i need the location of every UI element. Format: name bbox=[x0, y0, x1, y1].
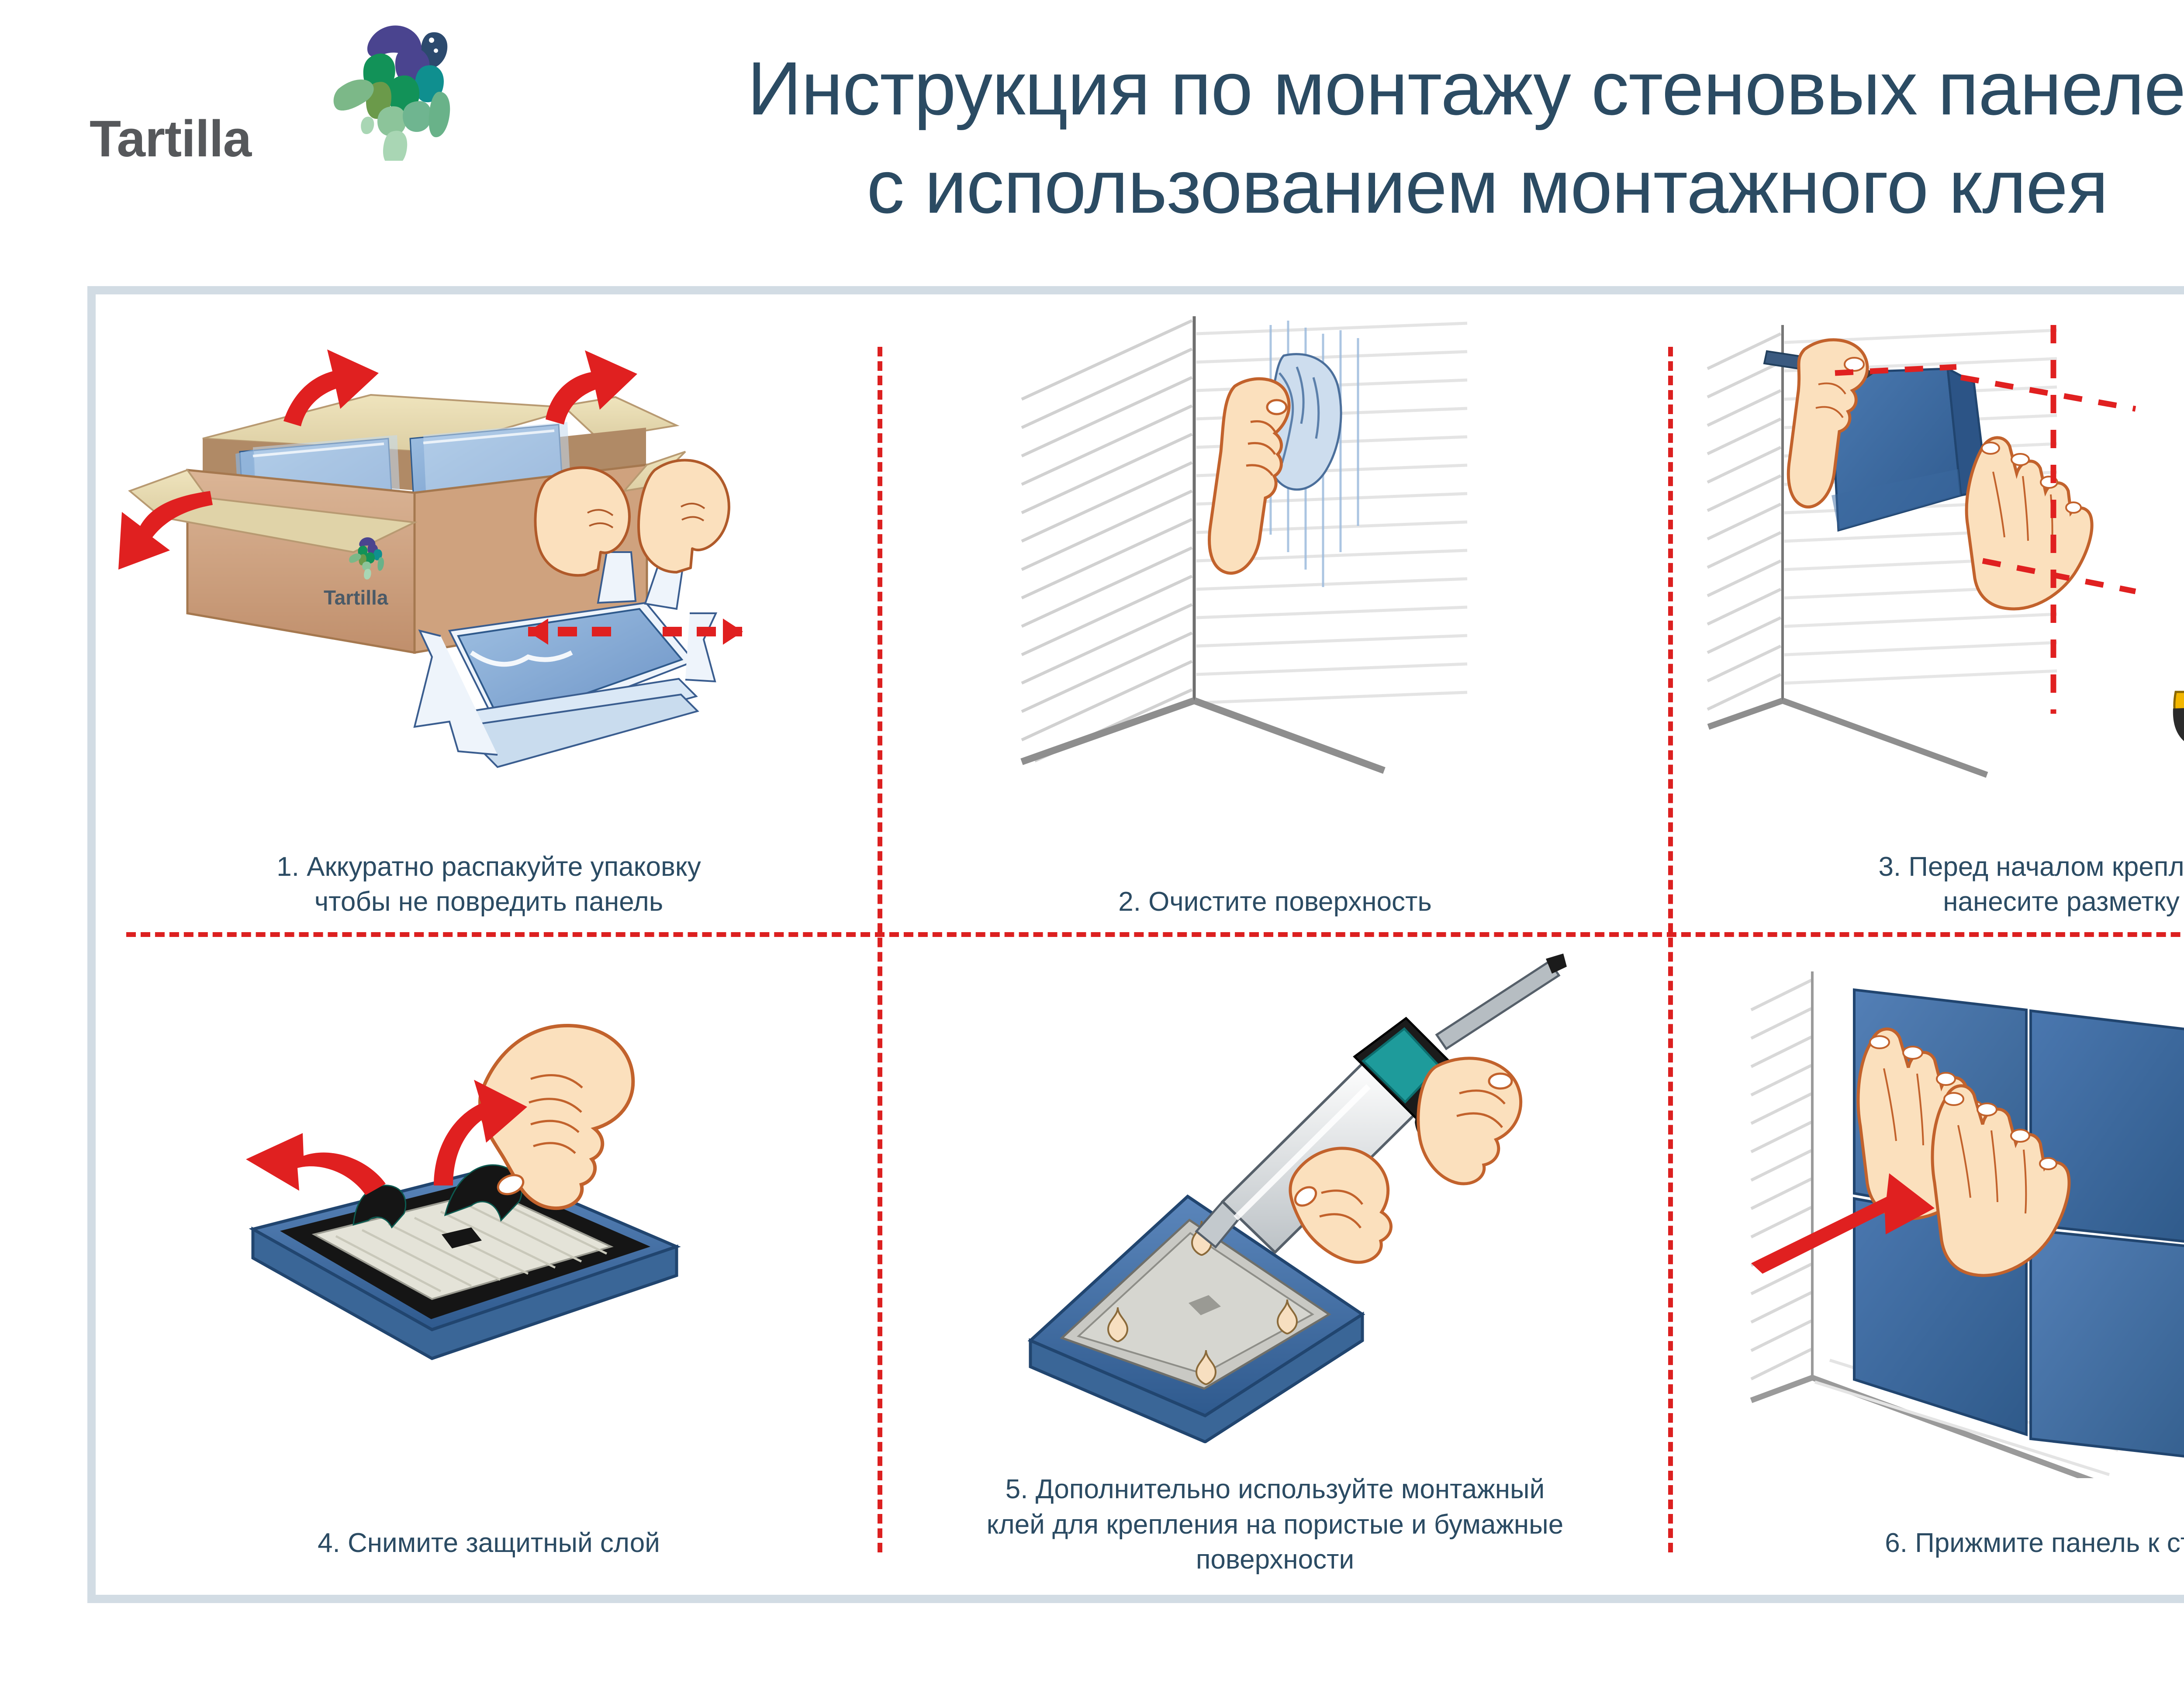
divider-vertical-2 bbox=[1668, 347, 1673, 1552]
mark-layout-illustration bbox=[1681, 308, 2184, 819]
title-line-2: с использованием монтажного клея bbox=[515, 138, 2184, 236]
step-caption-1: 1. Аккуратно распакуйте упаковку чтобы н… bbox=[109, 850, 869, 920]
step-card-3: 3. Перед началом крепления нанесите разм… bbox=[1681, 308, 2184, 928]
step-card-2: 2. Очистите поверхность bbox=[891, 308, 1659, 928]
caption-line: клей для крепления на пористые и бумажны… bbox=[891, 1507, 1659, 1543]
caption-line: нанесите разметку bbox=[1681, 885, 2184, 920]
caption-line: 2. Очистите поверхность bbox=[891, 885, 1659, 920]
step-card-4: 4. Снимите защитный слой bbox=[109, 941, 869, 1587]
turtle-logo-icon bbox=[319, 17, 463, 161]
caption-line: 3. Перед началом крепления bbox=[1681, 850, 2184, 885]
step-card-1: Tartilla bbox=[109, 308, 869, 928]
press-panel-illustration bbox=[1681, 941, 2184, 1478]
unpack-box-illustration: Tartilla bbox=[109, 308, 869, 819]
caption-line: 5. Дополнительно используйте монтажный bbox=[891, 1472, 1659, 1507]
hand-icon bbox=[1966, 438, 2092, 609]
apply-adhesive-illustration bbox=[891, 941, 1659, 1443]
step-caption-2: 2. Очистите поверхность bbox=[891, 885, 1659, 920]
step-caption-5: 5. Дополнительно используйте монтажный к… bbox=[891, 1472, 1659, 1578]
caption-line: 4. Снимите защитный слой bbox=[109, 1526, 869, 1561]
arrow-peel-left bbox=[246, 1133, 386, 1195]
wall-panel bbox=[2031, 1230, 2184, 1457]
caption-line: чтобы не повредить панель bbox=[109, 885, 869, 920]
caption-line: поверхности bbox=[891, 1542, 1659, 1578]
caulking-gun-icon bbox=[1196, 954, 1567, 1262]
divider-vertical-1 bbox=[878, 347, 882, 1552]
step-caption-6: 6. Прижмите панель к стене bbox=[1681, 1526, 2184, 1561]
caption-line: 6. Прижмите панель к стене bbox=[1681, 1526, 2184, 1561]
caption-line: 1. Аккуратно распакуйте упаковку bbox=[109, 850, 869, 885]
divider-horizontal-1 bbox=[126, 932, 2184, 937]
title-line-1: Инструкция по монтажу стеновых панелей bbox=[515, 39, 2184, 138]
remove-protective-layer-illustration bbox=[109, 941, 869, 1478]
page-header: Tartilla bbox=[0, 0, 2184, 271]
tape-measure-icon bbox=[2173, 382, 2184, 751]
page-title: Инструкция по монтажу стеновых панелей с… bbox=[515, 39, 2184, 236]
box-brand-label: Tartilla bbox=[324, 586, 388, 609]
steps-frame: Tartilla bbox=[87, 286, 2184, 1603]
step-card-6: 6. Прижмите панель к стене bbox=[1681, 941, 2184, 1587]
step-caption-3: 3. Перед началом крепления нанесите разм… bbox=[1681, 850, 2184, 920]
clean-surface-illustration bbox=[891, 308, 1659, 819]
step-card-5: 5. Дополнительно используйте монтажный к… bbox=[891, 941, 1659, 1587]
step-caption-4: 4. Снимите защитный слой bbox=[109, 1526, 869, 1561]
brand-name: Tartilla bbox=[90, 109, 251, 169]
brand-lockup: Tartilla bbox=[90, 17, 526, 161]
